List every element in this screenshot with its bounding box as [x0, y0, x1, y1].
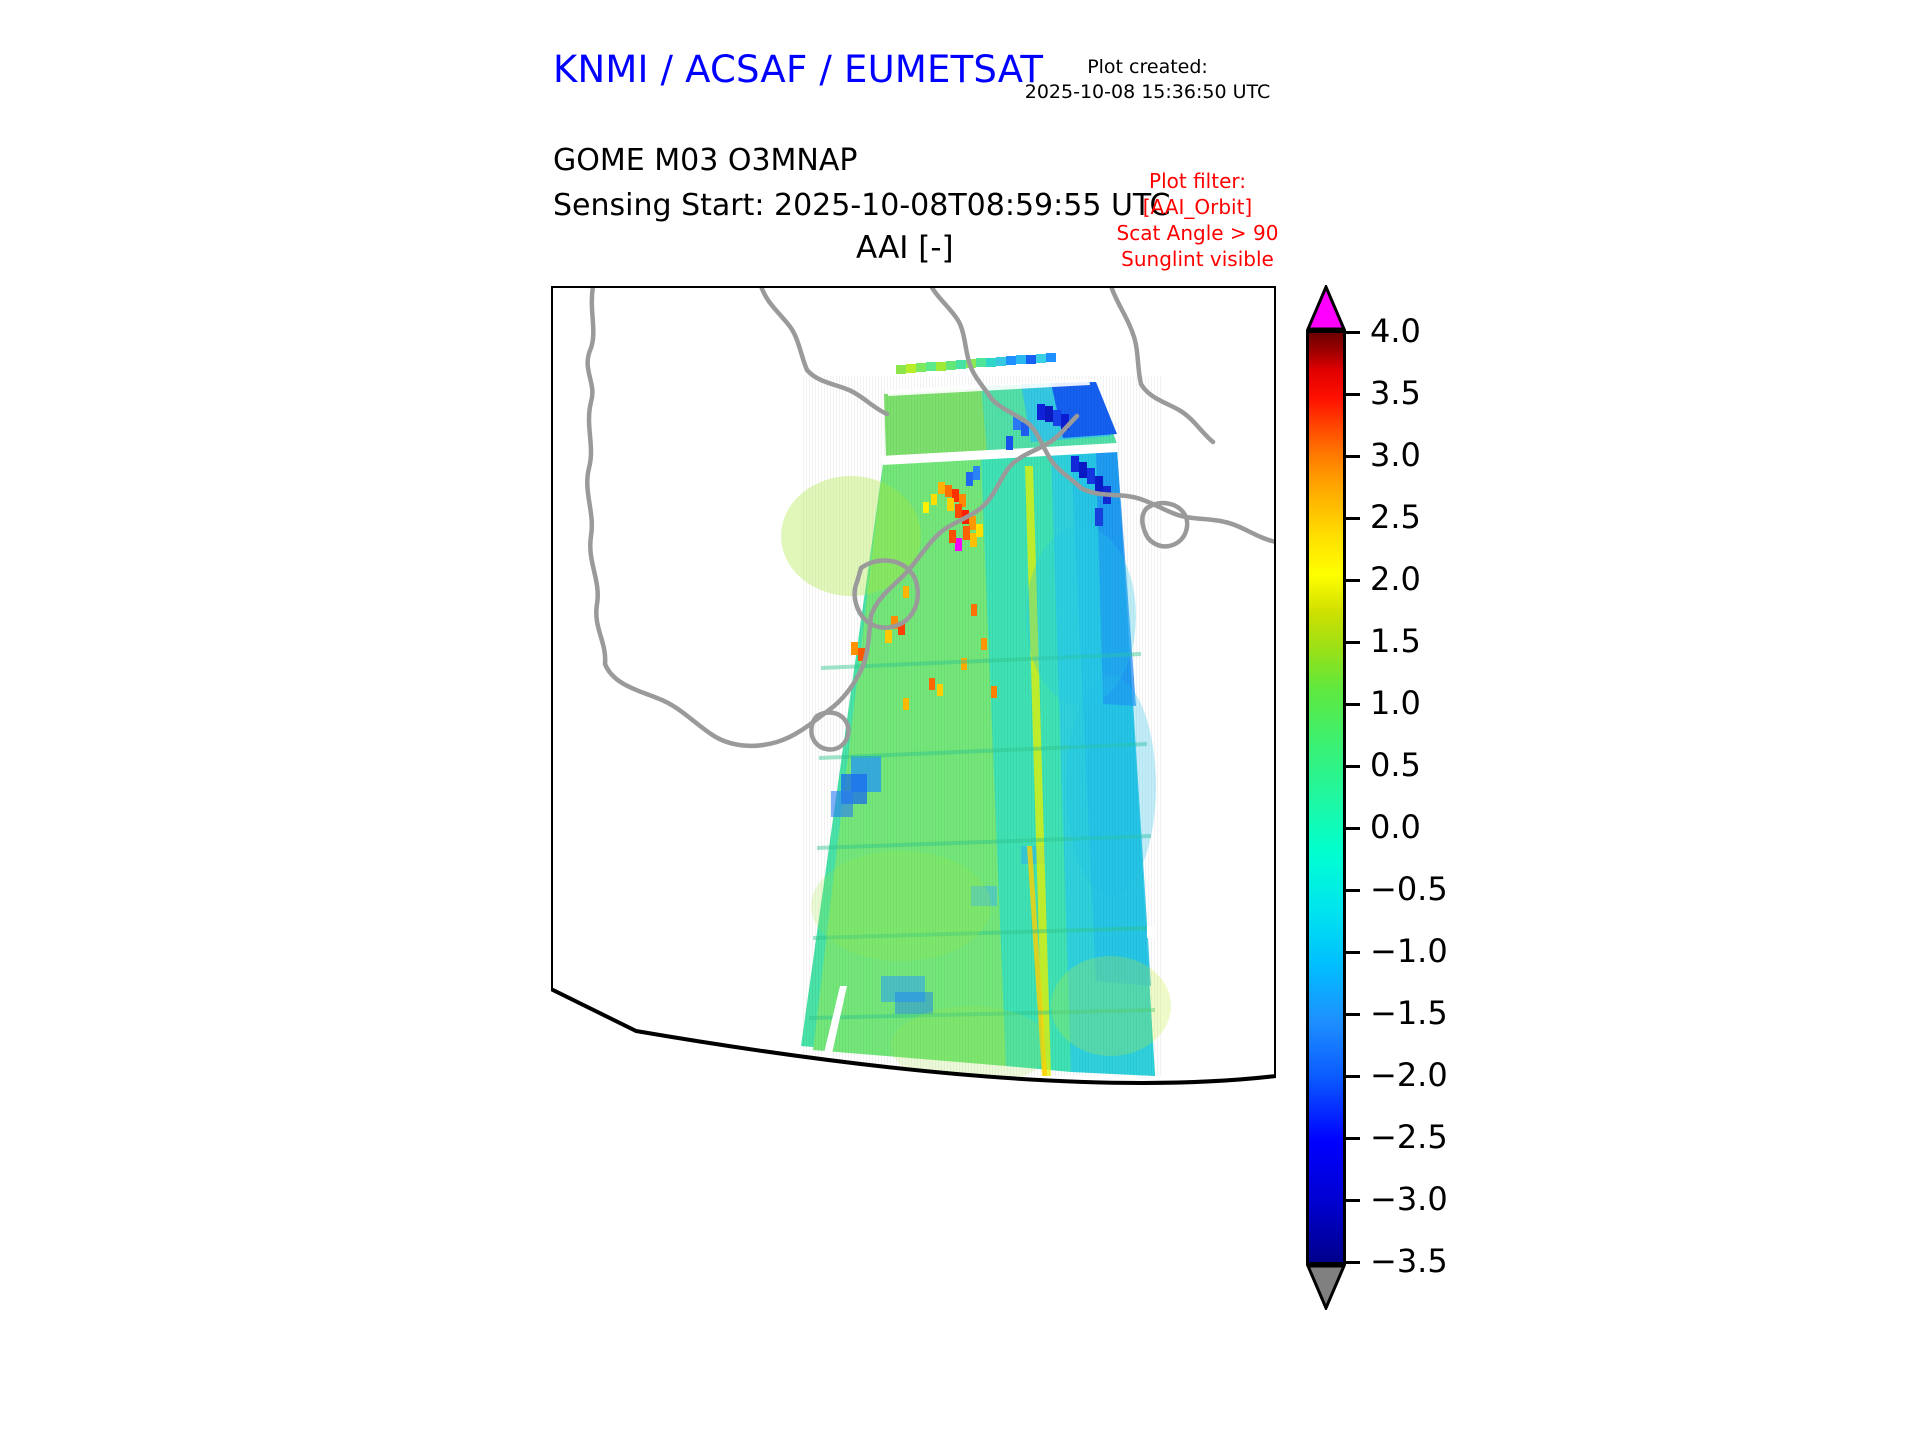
colorbar-tick-13	[1346, 1137, 1360, 1140]
quantity-title: AAI [-]	[856, 230, 954, 266]
colorbar-over-range-arrow	[1306, 285, 1346, 330]
colorbar-tick-14	[1346, 1199, 1360, 1202]
colorbar-tick-11	[1346, 1013, 1360, 1016]
plot-filter-block: Plot filter: [AAI_Orbit] Scat Angle > 90…	[1055, 168, 1340, 272]
colorbar-label-14: −3.0	[1370, 1183, 1448, 1215]
map-plot-area	[551, 286, 1276, 1102]
plot-created-timestamp: 2025-10-08 15:36:50 UTC	[1010, 80, 1285, 105]
colorbar-tick-12	[1346, 1075, 1360, 1078]
colorbar-label-3: 2.5	[1370, 501, 1421, 533]
colorbar-label-9: −0.5	[1370, 873, 1448, 905]
colorbar-label-5: 1.5	[1370, 625, 1421, 657]
colorbar-tick-3	[1346, 517, 1360, 520]
plot-filter-line-2: Scat Angle > 90	[1055, 220, 1340, 246]
colorbar-tick-9	[1346, 889, 1360, 892]
colorbar-tick-8	[1346, 827, 1360, 830]
colorbar-under-range-arrow	[1306, 1265, 1346, 1310]
colorbar-tick-10	[1346, 951, 1360, 954]
colorbar-tick-1	[1346, 393, 1360, 396]
colorbar-tick-7	[1346, 765, 1360, 768]
colorbar-label-8: 0.0	[1370, 811, 1421, 843]
product-title: GOME M03 O3MNAP	[553, 143, 857, 178]
colorbar-tick-2	[1346, 455, 1360, 458]
colorbar-tick-6	[1346, 703, 1360, 706]
colorbar-label-1: 3.5	[1370, 377, 1421, 409]
plot-created-block: Plot created: 2025-10-08 15:36:50 UTC	[1010, 55, 1285, 105]
colorbar-label-4: 2.0	[1370, 563, 1421, 595]
organisation-title: KNMI / ACSAF / EUMETSAT	[553, 48, 1043, 91]
colorbar-label-15: −3.5	[1370, 1245, 1448, 1277]
plot-created-label: Plot created:	[1010, 55, 1285, 80]
colorbar-tick-15	[1346, 1261, 1360, 1264]
plot-filter-line-3: Sunglint visible	[1055, 246, 1340, 272]
map-frame	[551, 286, 1276, 1102]
colorbar-tick-4	[1346, 579, 1360, 582]
colorbar-tick-5	[1346, 641, 1360, 644]
plot-filter-line-0: Plot filter:	[1055, 168, 1340, 194]
colorbar-tick-0	[1346, 331, 1360, 334]
colorbar-label-10: −1.0	[1370, 935, 1448, 967]
colorbar-label-11: −1.5	[1370, 997, 1448, 1029]
colorbar: 4.0 3.5 3.0 2.5 2.0 1.5 1.0 0.5 0.0 −0.5…	[1298, 285, 1618, 1315]
colorbar-gradient	[1306, 330, 1346, 1265]
colorbar-label-7: 0.5	[1370, 749, 1421, 781]
colorbar-label-0: 4.0	[1370, 315, 1421, 347]
swath-data-layer	[781, 353, 1171, 1086]
plot-filter-line-1: [AAI_Orbit]	[1055, 194, 1340, 220]
colorbar-label-13: −2.5	[1370, 1121, 1448, 1153]
colorbar-label-6: 1.0	[1370, 687, 1421, 719]
swath-main-body	[781, 376, 1171, 1086]
colorbar-label-12: −2.0	[1370, 1059, 1448, 1091]
colorbar-label-2: 3.0	[1370, 439, 1421, 471]
